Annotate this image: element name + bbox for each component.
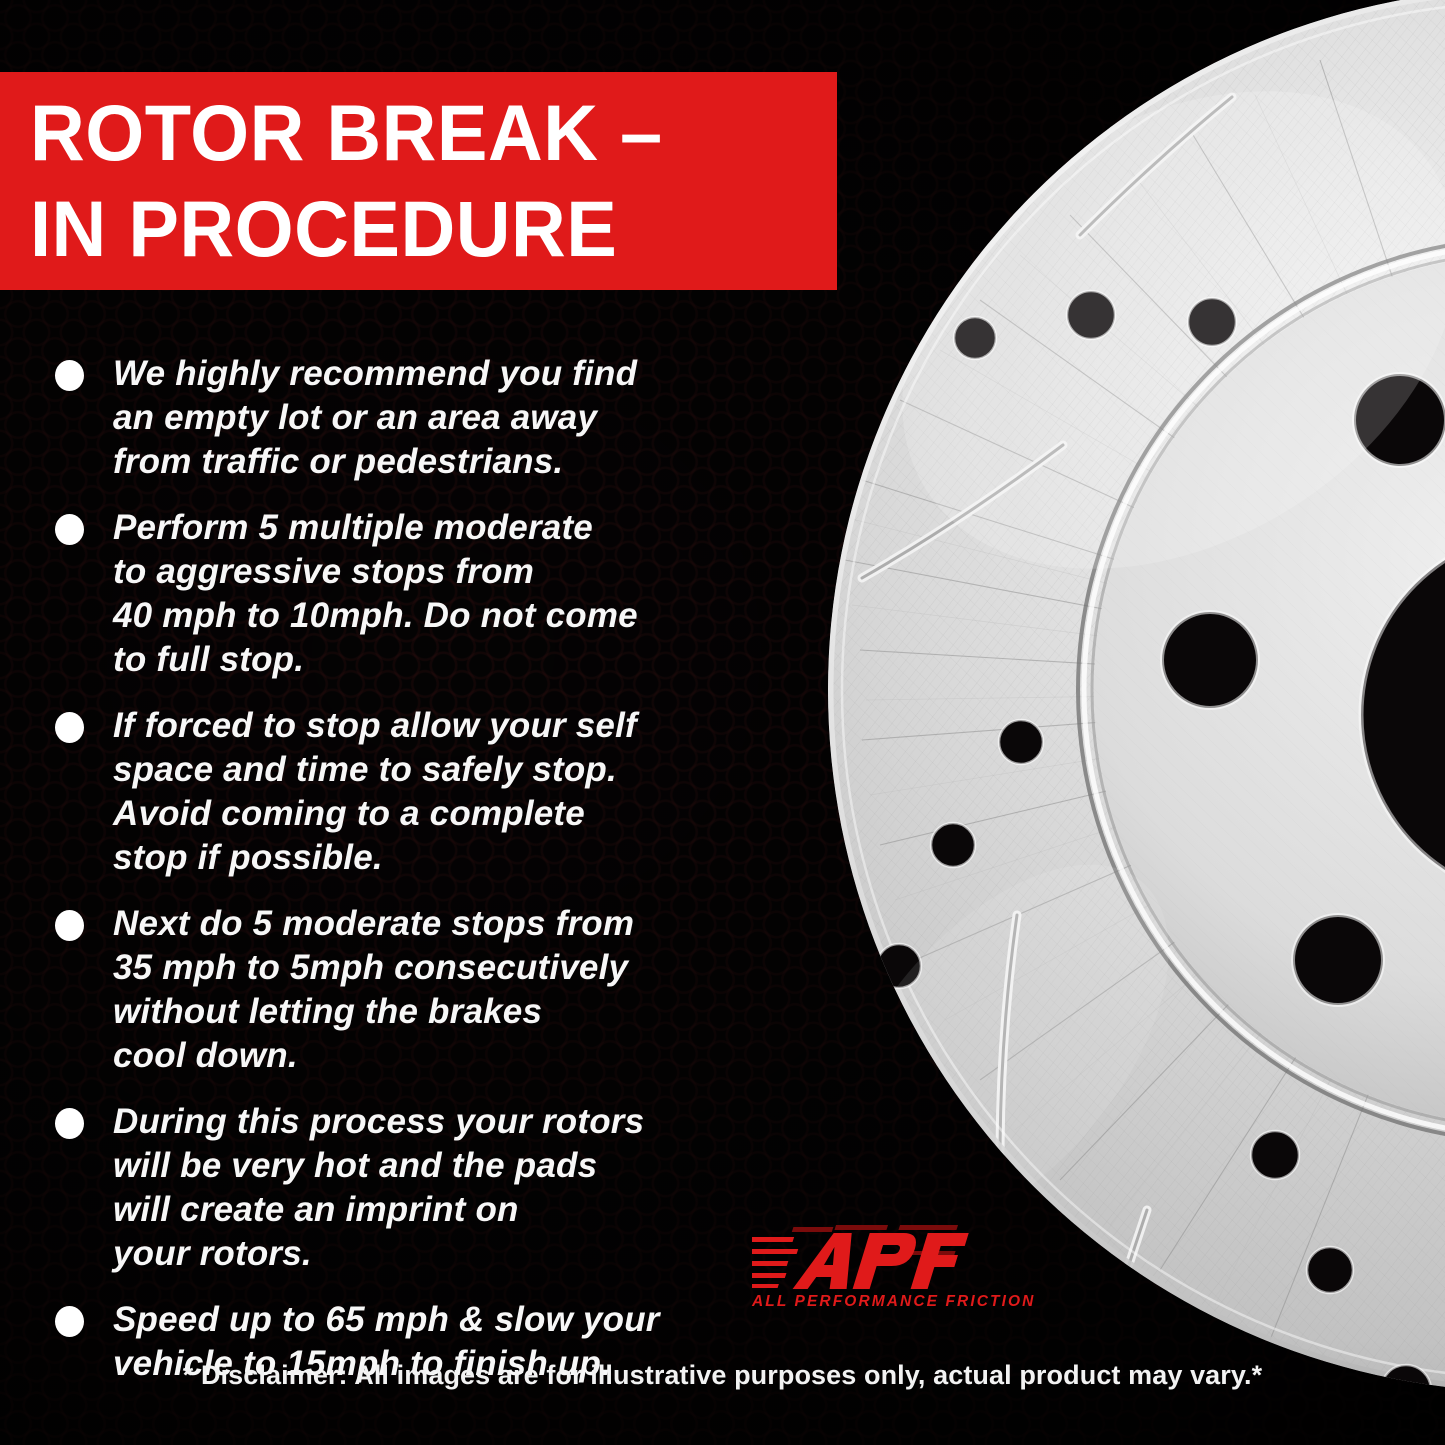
- list-item-label: Perform 5 multiple moderate to aggressiv…: [113, 506, 638, 682]
- list-item-label: We highly recommend you find an empty lo…: [113, 352, 637, 484]
- list-item: If forced to stop allow your self space …: [0, 704, 800, 880]
- bullet-dot-icon: [55, 1306, 84, 1337]
- list-item-label: During this process your rotors will be …: [113, 1100, 644, 1276]
- page-title-line-1: ROTOR BREAK –: [30, 85, 805, 181]
- list-item: Next do 5 moderate stops from 35 mph to …: [0, 902, 800, 1078]
- title-banner: ROTOR BREAK – IN PROCEDURE: [0, 72, 837, 290]
- bullet-dot-icon: [55, 360, 84, 391]
- bullet-dot-icon: [55, 1108, 84, 1139]
- page-title-line-2: IN PROCEDURE: [30, 181, 805, 277]
- apf-brand-logo: ALL PERFORMANCE FRICTION: [752, 1219, 992, 1331]
- break-in-steps-list: We highly recommend you find an empty lo…: [0, 352, 800, 1408]
- bullet-dot-icon: [55, 514, 84, 545]
- list-item: Perform 5 multiple moderate to aggressiv…: [0, 506, 800, 682]
- apf-wordmark-icon: [752, 1219, 992, 1297]
- list-item: We highly recommend you find an empty lo…: [0, 352, 800, 484]
- disclaimer-text: * Disclaimer: All images are for illustr…: [0, 1360, 1445, 1391]
- list-item: During this process your rotors will be …: [0, 1100, 800, 1276]
- list-item-label: If forced to stop allow your self space …: [113, 704, 637, 880]
- bullet-dot-icon: [55, 712, 84, 743]
- bullet-dot-icon: [55, 910, 84, 941]
- rotor-break-in-infographic: ROTOR BREAK – IN PROCEDURE We highly rec…: [0, 0, 1445, 1445]
- list-item-label: Next do 5 moderate stops from 35 mph to …: [113, 902, 634, 1078]
